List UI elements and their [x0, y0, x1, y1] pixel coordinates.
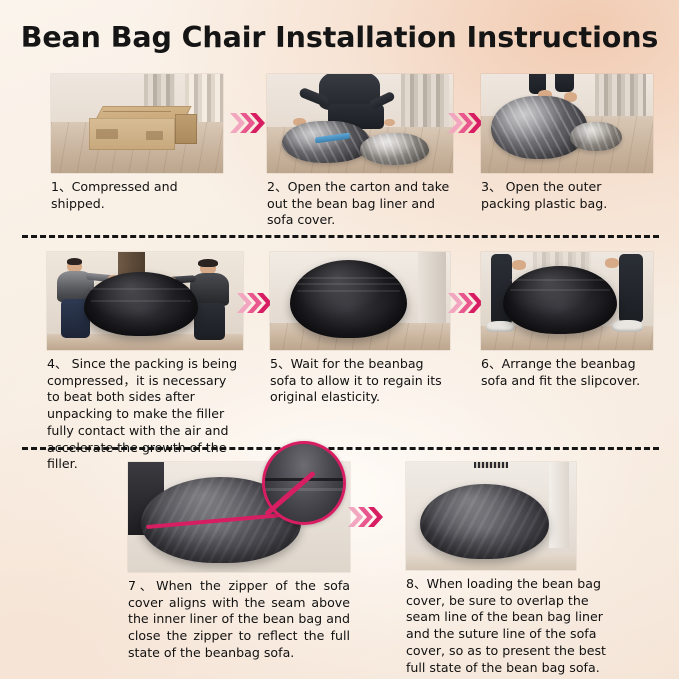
step-5: 5、Wait for the beanbag sofa to allow it …	[270, 252, 450, 406]
step-8-photo	[406, 462, 576, 570]
cover-crease	[510, 289, 610, 291]
row-divider-1	[22, 235, 659, 238]
arrow-step-1-to-2	[229, 110, 267, 136]
scene-carton	[51, 74, 223, 173]
person-leg-right	[555, 74, 574, 92]
arrow-step-7-to-8	[347, 504, 385, 530]
step-6-caption: 6、Arrange the beanbag sofa and fit the s…	[481, 356, 653, 389]
page-title: Bean Bag Chair Installation Instructions	[0, 21, 679, 54]
liner-crease	[297, 277, 400, 279]
step-2-caption: 2、Open the carton and take out the bean …	[267, 179, 453, 229]
worker-right-cap	[198, 259, 218, 267]
triple-chevron-right-icon	[236, 290, 274, 316]
door-frame	[418, 252, 447, 323]
magnified-zipper-line	[262, 488, 346, 491]
wall-trim	[474, 462, 508, 468]
person-right-legs	[619, 254, 643, 323]
step-2-photo	[267, 74, 453, 173]
bean-bag-liner	[84, 272, 198, 337]
finished-bean-bag-chair	[420, 484, 549, 560]
bean-bag-with-slipcover	[503, 266, 617, 335]
triple-chevron-right-icon	[229, 110, 267, 136]
vacuum-bag-cover	[360, 133, 429, 165]
arrow-step-5-to-6	[447, 290, 485, 316]
step-1-photo	[51, 74, 223, 173]
infographic-page: Bean Bag Chair Installation Instructions…	[0, 0, 679, 679]
person-left-shoe	[486, 321, 514, 333]
triple-chevron-right-icon	[447, 290, 485, 316]
worker-left-hair	[67, 258, 83, 265]
step-6: 6、Arrange the beanbag sofa and fit the s…	[481, 252, 653, 389]
carton-seam	[103, 111, 172, 112]
step-1: 1、Compressed and shipped.	[51, 74, 223, 212]
compressed-filler-bag	[491, 96, 587, 159]
person-left-hand	[512, 260, 526, 270]
step-3: 3、 Open the outer packing plastic bag.	[481, 74, 653, 212]
radiator	[549, 462, 569, 548]
triple-chevron-right-icon	[347, 504, 385, 530]
scene-finished-bean-bag	[406, 462, 576, 570]
step-8: 8、When loading the bean bag cover, be su…	[406, 462, 606, 676]
carton-print	[146, 131, 163, 140]
step-1-caption: 1、Compressed and shipped.	[51, 179, 223, 212]
carton-side	[175, 114, 197, 145]
person-right-hand	[605, 258, 619, 268]
liner-crease	[91, 288, 191, 290]
step-5-caption: 5、Wait for the beanbag sofa to allow it …	[270, 356, 450, 406]
step-4-caption: 4、 Since the packing is being compressed…	[47, 356, 243, 473]
scene-open-carton	[267, 74, 453, 173]
liner-crease	[297, 290, 400, 292]
step-6-photo	[481, 252, 653, 350]
outer-plastic-bag	[570, 122, 622, 152]
triple-chevron-right-icon	[447, 110, 485, 136]
arrow-step-2-to-3	[447, 110, 485, 136]
step-4-photo	[47, 252, 243, 350]
liner-crease	[91, 300, 191, 302]
step-7-caption: 7、When the zipper of the sofa cover alig…	[128, 578, 350, 662]
step-2: 2、Open the carton and take out the bean …	[267, 74, 453, 229]
scene-beating-liner	[47, 252, 243, 350]
person-right-shoe	[612, 320, 643, 333]
scene-bean-bag-resting	[270, 252, 450, 350]
step-5-photo	[270, 252, 450, 350]
curtain	[595, 74, 647, 116]
liner-crease	[297, 283, 400, 285]
scene-fitting-slipcover	[481, 252, 653, 350]
carton-label	[96, 129, 118, 139]
step-4: 4、 Since the packing is being compressed…	[47, 252, 243, 473]
step-3-caption: 3、 Open the outer packing plastic bag.	[481, 179, 653, 212]
arrow-step-4-to-5	[236, 290, 274, 316]
step-8-caption: 8、When loading the bean bag cover, be su…	[406, 576, 606, 676]
step-3-photo	[481, 74, 653, 173]
curtain	[401, 74, 449, 127]
cover-crease	[510, 279, 610, 281]
scene-outer-bag	[481, 74, 653, 173]
worker-right-legs	[194, 303, 225, 340]
bean-bag-liner	[290, 260, 407, 338]
